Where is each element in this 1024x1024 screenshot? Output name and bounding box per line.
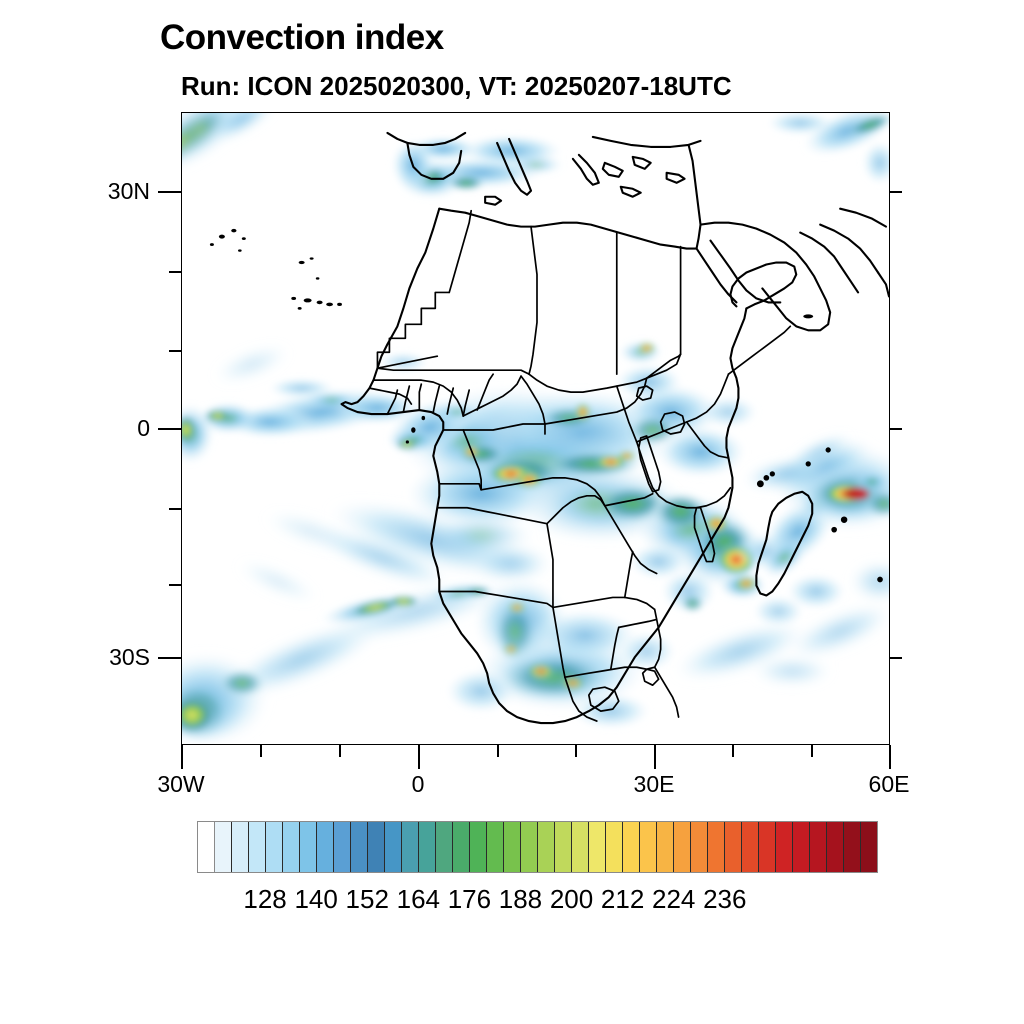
colorbar-cell (623, 822, 640, 872)
ytick-right-1 (890, 191, 902, 193)
colorbar-cell (198, 822, 215, 872)
colorbar-cell (385, 822, 402, 872)
ytick-label-30N: 30N (55, 178, 150, 205)
xtick-minor-4 (575, 745, 577, 757)
xtick-label-30W: 30W (131, 771, 231, 798)
page-title: Convection index (160, 18, 444, 58)
figure-canvas: Convection index Run: ICON 2025020300, V… (0, 0, 1024, 1024)
colorbar-cell (317, 822, 334, 872)
colorbar-cell (521, 822, 538, 872)
colorbar-cell (589, 822, 606, 872)
colorbar-cell (300, 822, 317, 872)
ytick-minor-2 (169, 350, 181, 352)
xtick-label-0: 0 (368, 771, 468, 798)
ytick-minor-1 (169, 271, 181, 273)
colorbar-cell (810, 822, 827, 872)
ytick-minor-4 (169, 584, 181, 586)
colorbar-cell (453, 822, 470, 872)
colorbar-cell (368, 822, 385, 872)
colorbar-tick-label: 236 (685, 884, 765, 915)
colorbar-cell (708, 822, 725, 872)
page-subtitle: Run: ICON 2025020300, VT: 20250207-18UTC (181, 71, 732, 102)
colorbar-cell (538, 822, 555, 872)
map-plot-area (181, 112, 890, 745)
colorbar-cell (436, 822, 453, 872)
convection-field (182, 113, 889, 744)
colorbar-cell (776, 822, 793, 872)
colorbar[interactable] (197, 821, 878, 873)
feature-tropical-cyclone (741, 427, 889, 529)
ytick-right-3 (890, 657, 902, 659)
ytick-major-0 (158, 428, 181, 430)
map-canvas (182, 113, 889, 744)
xtick-minor-2 (339, 745, 341, 757)
colorbar-cell (351, 822, 368, 872)
xtick-minor-5 (732, 745, 734, 757)
colorbar-cell (470, 822, 487, 872)
colorbar-cell (232, 822, 249, 872)
feature-northeast-corner (766, 113, 889, 185)
ytick-right-2 (890, 428, 902, 430)
ytick-minor-3 (169, 508, 181, 510)
colorbar-cell (215, 822, 232, 872)
colorbar-cell (674, 822, 691, 872)
xtick-major-30E (654, 745, 656, 769)
ytick-label-0: 0 (55, 415, 150, 442)
colorbar-cell (742, 822, 759, 872)
feature-nw-atlantic-front (182, 113, 281, 189)
xtick-major-30W (181, 745, 183, 769)
colorbar-cell (487, 822, 504, 872)
colorbar-cell (266, 822, 283, 872)
colorbar-cell (572, 822, 589, 872)
colorbar-cell (691, 822, 708, 872)
xtick-minor-6 (811, 745, 813, 757)
ytick-major-30N (158, 191, 181, 193)
colorbar-cell (793, 822, 810, 872)
ytick-major-30S (158, 657, 181, 659)
feature-atlantic-wisps (210, 337, 364, 610)
xtick-minor-1 (260, 745, 262, 757)
colorbar-cell (844, 822, 861, 872)
colorbar-cell (419, 822, 436, 872)
colorbar-cell (504, 822, 521, 872)
colorbar-cell (657, 822, 674, 872)
colorbar-cell (334, 822, 351, 872)
colorbar-cell (402, 822, 419, 872)
colorbar-cell (725, 822, 742, 872)
colorbar-cell (827, 822, 844, 872)
colorbar-cell (555, 822, 572, 872)
colorbar-cell (759, 822, 776, 872)
ytick-label-30S: 30S (55, 644, 150, 671)
colorbar-cell (283, 822, 300, 872)
colorbar-cell (606, 822, 623, 872)
colorbar-cell (861, 822, 877, 872)
xtick-label-30E: 30E (604, 771, 704, 798)
xtick-major-0 (418, 745, 420, 769)
xtick-minor-3 (497, 745, 499, 757)
xtick-label-60E: 60E (839, 771, 939, 798)
xtick-major-60E (889, 745, 891, 769)
feature-sw-front (182, 569, 515, 744)
colorbar-cell (249, 822, 266, 872)
colorbar-cell (640, 822, 657, 872)
